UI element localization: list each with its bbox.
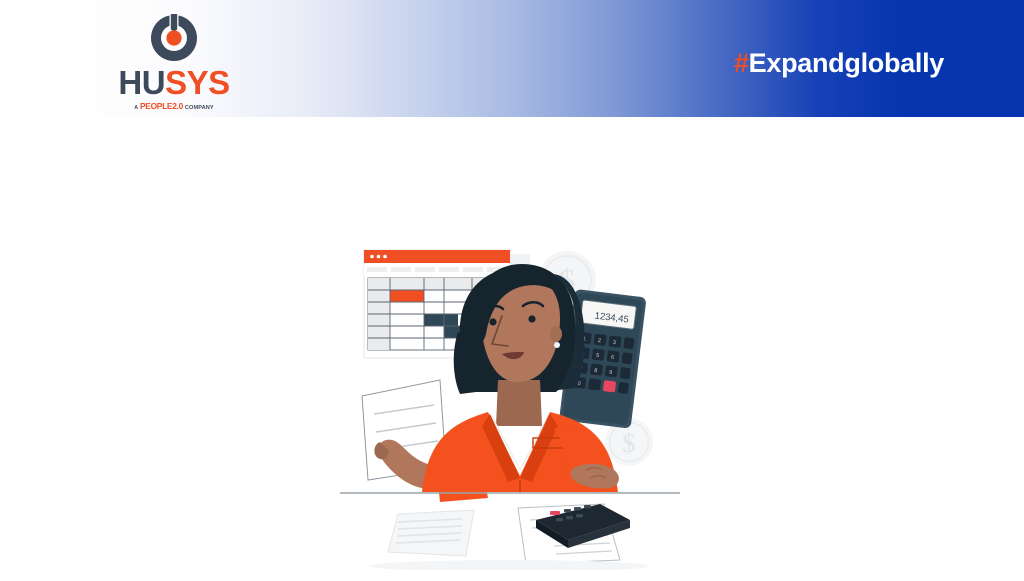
brand-wordmark: HUSYS bbox=[104, 66, 244, 99]
spreadsheet-column-headers bbox=[364, 263, 510, 276]
brand-tagline: A PEOPLE2.0 COMPANY bbox=[104, 102, 244, 112]
campaign-hashtag: #Expandglobally bbox=[734, 48, 944, 79]
brand-tagline-suffix: COMPANY bbox=[185, 105, 214, 111]
desk-document-left bbox=[388, 510, 474, 556]
eye-right bbox=[528, 315, 535, 322]
window-dot-icon bbox=[370, 255, 374, 259]
hash-symbol-icon: # bbox=[734, 48, 749, 78]
brand-wordmark-part2: SYS bbox=[165, 64, 230, 101]
window-dot-icon bbox=[377, 255, 381, 259]
svg-text:$: $ bbox=[622, 428, 636, 458]
campaign-hashtag-text: Expandglobally bbox=[749, 48, 944, 78]
calculator-equals-key bbox=[603, 380, 616, 392]
desk-shadow bbox=[370, 560, 650, 570]
illustration-canvas: $ $ bbox=[340, 230, 680, 570]
spreadsheet-cell-orange bbox=[390, 290, 424, 302]
husys-circle-dot-logo-icon bbox=[148, 12, 200, 64]
window-dot-icon bbox=[383, 255, 387, 259]
brand-tagline-prefix: A bbox=[134, 105, 138, 111]
brand-tagline-parent: PEOPLE2.0 bbox=[140, 101, 183, 111]
brand-logo[interactable]: HUSYS A PEOPLE2.0 COMPANY bbox=[104, 12, 244, 112]
hero-illustration: $ $ bbox=[340, 230, 680, 570]
eye-left bbox=[489, 318, 496, 325]
ear bbox=[550, 326, 562, 342]
earring-icon bbox=[554, 342, 560, 348]
spreadsheet-cell-teal bbox=[424, 314, 458, 326]
brand-wordmark-part1: HU bbox=[118, 64, 165, 101]
desk-calculator-accent-key bbox=[550, 511, 560, 515]
neck bbox=[496, 380, 542, 426]
